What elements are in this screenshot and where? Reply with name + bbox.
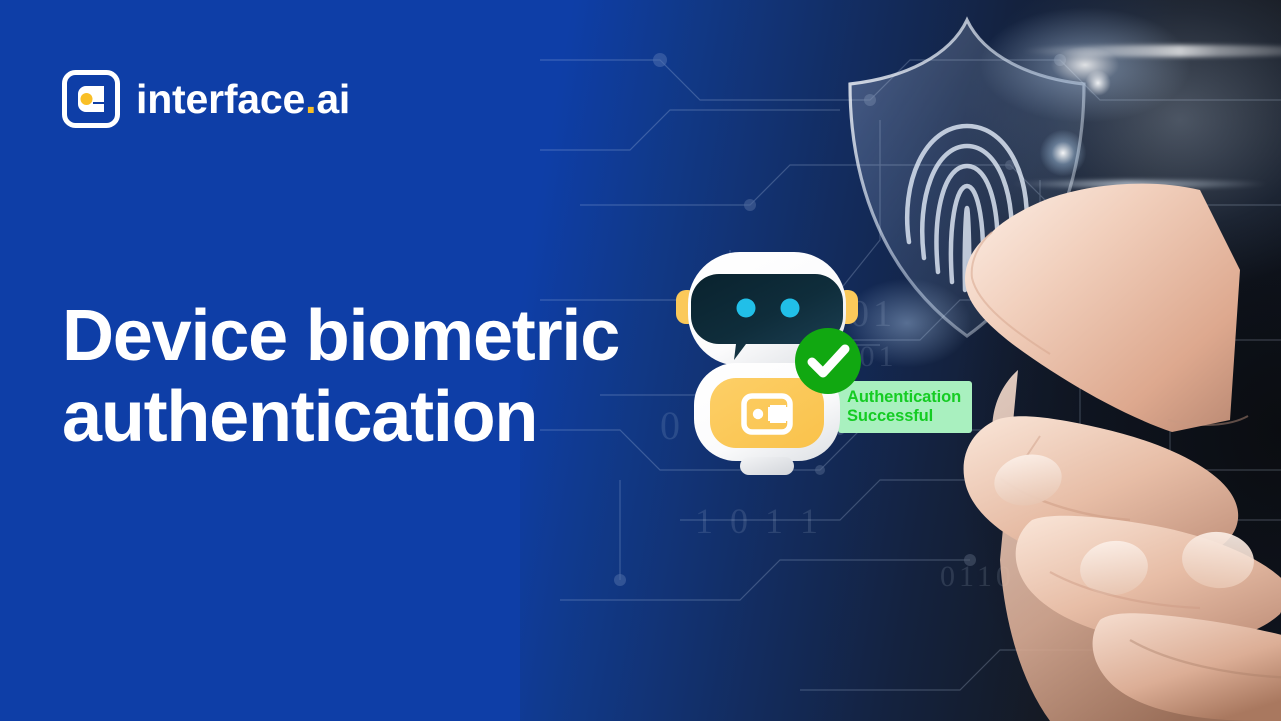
marketing-banner: 010 00 011 0 1 0 1 01 1 0 1 1 0110 01 01: [0, 0, 1281, 721]
brand-logo[interactable]: interface.ai: [62, 70, 350, 128]
status-badge-line-1: Authentication: [847, 388, 972, 407]
robot-eye-right: [781, 299, 800, 318]
brand-name-suffix: ai: [316, 76, 350, 122]
green-check-circle-icon: [795, 328, 861, 394]
brand-name-dot: .: [305, 76, 316, 122]
brand-name: interface.ai: [136, 79, 350, 120]
robot-eye-left: [737, 299, 756, 318]
brand-name-main: interface: [136, 76, 305, 122]
interface-ai-logo-mark: [62, 70, 120, 128]
page-title: Device biometric authentication: [62, 296, 682, 457]
headline-line-1: Device biometric: [62, 296, 682, 377]
headline-line-2: authentication: [62, 377, 682, 458]
status-badge-line-2: Successful: [847, 407, 972, 426]
